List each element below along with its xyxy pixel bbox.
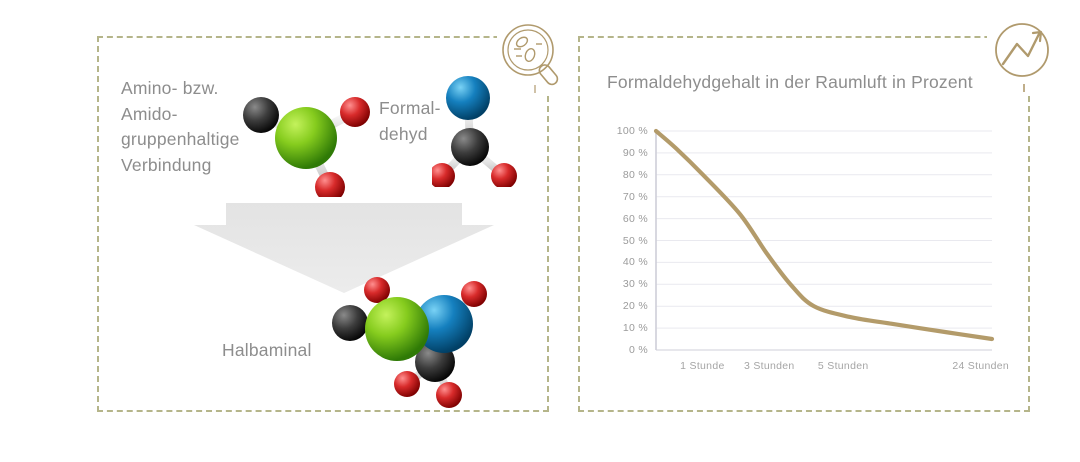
y-axis-tick-label: 90 % bbox=[600, 147, 648, 159]
y-axis-tick-label: 20 % bbox=[600, 300, 648, 312]
y-axis-tick-label: 0 % bbox=[600, 344, 648, 356]
formaldehyde-molecule bbox=[432, 72, 532, 187]
y-axis-tick-label: 60 % bbox=[600, 213, 648, 225]
x-axis-tick-label: 3 Stunden bbox=[744, 360, 795, 372]
chart-title: Formaldehydgehalt in der Raumluft in Pro… bbox=[607, 72, 973, 93]
x-axis-tick-label: 5 Stunden bbox=[818, 360, 869, 372]
y-axis-tick-label: 40 % bbox=[600, 256, 648, 268]
x-axis-tick-label: 1 Stunde bbox=[680, 360, 724, 372]
circle-trend-chart-icon bbox=[987, 20, 1061, 94]
x-axis-tick-label: 24 Stunden bbox=[952, 360, 1009, 372]
y-axis-tick-label: 70 % bbox=[600, 191, 648, 203]
y-axis-tick-label: 80 % bbox=[600, 169, 648, 181]
y-axis-tick-label: 30 % bbox=[600, 278, 648, 290]
halbaminal-molecule bbox=[318, 272, 518, 412]
infographic-canvas: Amino- bzw. Amido- gruppenhaltige Verbin… bbox=[0, 0, 1080, 462]
y-axis-tick-label: 100 % bbox=[600, 125, 648, 137]
amino-compound-molecule bbox=[234, 82, 374, 197]
chart-plot bbox=[600, 118, 1000, 378]
line-chart: 100 %90 %80 %70 %60 %50 %40 %30 %20 %10 … bbox=[600, 118, 1000, 378]
y-axis-tick-label: 50 % bbox=[600, 235, 648, 247]
y-axis-tick-label: 10 % bbox=[600, 322, 648, 334]
